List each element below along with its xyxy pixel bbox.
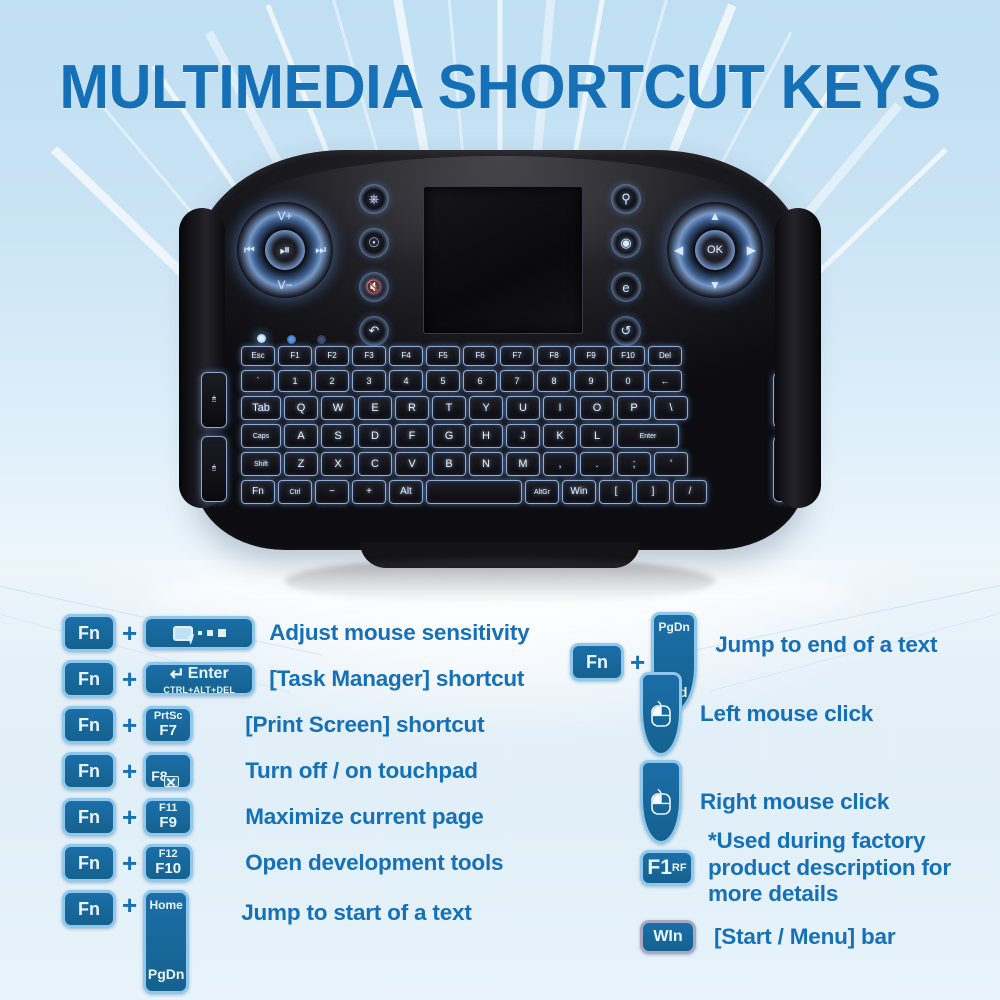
- enter-text: Enter: [188, 665, 229, 683]
- key-rf-superscript: RF: [672, 862, 687, 874]
- keyboard-key-f6: F6: [463, 346, 497, 366]
- keyboard-key-p: P: [617, 396, 651, 420]
- touchpad-sensitivity-icon: [173, 626, 226, 641]
- plus-sign: +: [122, 890, 137, 921]
- keyboard-key-: ,: [543, 452, 577, 476]
- dpad-up-icon: ▲: [709, 209, 721, 223]
- keyboard-touchpad: [423, 186, 583, 334]
- browser-icon: e: [611, 272, 641, 302]
- key-f8-touchpad[interactable]: F8: [143, 752, 193, 790]
- keyboard-key-5: 5: [426, 370, 460, 392]
- enter-label: ↵Enter: [170, 664, 229, 685]
- home-icon: ☉: [359, 228, 389, 258]
- legend-row-left-0: Fn+Adjust mouse sensitivity: [62, 614, 529, 652]
- dpad-ring: ▲ ▼ ◀ ▶ OK: [667, 202, 763, 298]
- key-fn[interactable]: Fn: [62, 660, 116, 698]
- keyboard-key-: `: [241, 370, 275, 392]
- keyboard-key-s: S: [321, 424, 355, 448]
- legend-row-left-1: Fn+↵EnterCTRL+ALT+DEL[Task Manager] shor…: [62, 660, 524, 698]
- keyboard-key-: ]: [636, 480, 670, 504]
- keyboard-key-z: Z: [284, 452, 318, 476]
- plus-sign: +: [122, 756, 137, 787]
- product-image-keyboard: V+ V− ⏮ ⏭ ⏯ ▲ ▼ ◀ ▶ OK ⎈ ☉ 🔇 ↶ ⚲ ◉ e ↺ ⍐…: [195, 150, 805, 570]
- next-track-icon: ⏭: [315, 243, 326, 258]
- sensitivity-low: [198, 631, 202, 635]
- caps-led: [257, 334, 266, 343]
- keyboard-key-fn: Fn: [241, 480, 275, 504]
- keyboard-row-5: FnCtrl−+AltAltGrWin[]/: [241, 480, 707, 504]
- keyboard-key-tab: Tab: [241, 396, 281, 420]
- legend-description: [Task Manager] shortcut: [269, 666, 524, 692]
- keyboard-key-win: Win: [562, 480, 596, 504]
- legend-description: *Used during factory product description…: [708, 828, 988, 908]
- keyboard-key-: −: [315, 480, 349, 504]
- keyboard-key-: +: [352, 480, 386, 504]
- keyboard-key-f2: F2: [315, 346, 349, 366]
- num-led: [317, 335, 326, 344]
- key-home-pgdn[interactable]: HomePgDn: [143, 890, 189, 994]
- legend-description: Right mouse click: [700, 789, 889, 815]
- keyboard-key-alt: Alt: [389, 480, 423, 504]
- keyboard-key-: ': [654, 452, 688, 476]
- key-fn[interactable]: Fn: [62, 706, 116, 744]
- key-f10[interactable]: F12F10: [143, 844, 193, 882]
- key-fn[interactable]: Fn: [62, 890, 116, 928]
- legend-row-left-4: Fn+F11F9Maximize current page: [62, 798, 484, 836]
- enter-arrow-icon: ↵: [170, 664, 185, 685]
- keyboard-key-f7: F7: [500, 346, 534, 366]
- keyboard-key-f4: F4: [389, 346, 423, 366]
- dpad-down-icon: ▼: [709, 278, 721, 292]
- prev-track-icon: ⏮: [244, 243, 255, 258]
- keyboard-key-k: K: [543, 424, 577, 448]
- key-label: F1: [647, 856, 672, 880]
- sensitivity-high: [218, 629, 226, 637]
- key-adjust-sensitivity[interactable]: [143, 616, 255, 650]
- key-bottom-label: F9: [159, 815, 177, 831]
- keyboard-key-altgr: AltGr: [525, 480, 559, 504]
- keyboard-key-caps: Caps: [241, 424, 281, 448]
- plus-sign: +: [122, 710, 137, 741]
- keyboard-key-u: U: [506, 396, 540, 420]
- mouse-left-key: 🖱: [201, 372, 227, 428]
- keyboard-key-f8: F8: [537, 346, 571, 366]
- keyboard-key-9: 9: [574, 370, 608, 392]
- keyboard-key-c: C: [358, 452, 392, 476]
- key-f1-rf[interactable]: F1RF: [640, 850, 694, 886]
- keyboard-key-7: 7: [500, 370, 534, 392]
- touchpad-off-icon: [164, 776, 179, 787]
- legend-description: Turn off / on touchpad: [245, 758, 478, 784]
- plus-sign: +: [122, 802, 137, 833]
- key-win[interactable]: WIn: [640, 920, 696, 954]
- keyboard-key-o: O: [580, 396, 614, 420]
- app-icon: ◉: [611, 228, 641, 258]
- keyboard-key-q: Q: [284, 396, 318, 420]
- legend-row-left-3: Fn+F8Turn off / on touchpad: [62, 752, 478, 790]
- keyboard-row-2: TabQWERTYUIOP\: [241, 396, 688, 420]
- keyboard-key-3: 3: [352, 370, 386, 392]
- keyboard-key-8: 8: [537, 370, 571, 392]
- keyboard-key-x: X: [321, 452, 355, 476]
- play-pause-icon: ⏯: [265, 230, 305, 270]
- keyboard-key-f: F: [395, 424, 429, 448]
- legend-description: Maximize current page: [245, 804, 483, 830]
- keyboard-key-g: G: [432, 424, 466, 448]
- legend-row-right-1: Left mouse click: [570, 672, 873, 756]
- refresh-icon: ↺: [611, 316, 641, 346]
- sensitivity-mid: [207, 630, 213, 636]
- keyboard-key-d: D: [358, 424, 392, 448]
- keyboard-key-r: R: [395, 396, 429, 420]
- keyboard-key-v: V: [395, 452, 429, 476]
- key-fn[interactable]: Fn: [62, 844, 116, 882]
- plus-sign: +: [122, 664, 137, 695]
- media-ring-pad: V+ V− ⏮ ⏭ ⏯: [237, 202, 333, 298]
- keyboard-key-space: [426, 480, 522, 504]
- ctrl-alt-del-label: CTRL+ALT+DEL: [163, 685, 235, 695]
- mouse-left-click-key[interactable]: [640, 672, 682, 756]
- keyboard-key-n: N: [469, 452, 503, 476]
- keyboard-row-4: ShiftZXCVBNM,.;': [241, 452, 688, 476]
- keyboard-row-3: CapsASDFGHJKLEnter: [241, 424, 679, 448]
- key-enter-ctrl-alt-del[interactable]: ↵EnterCTRL+ALT+DEL: [143, 662, 255, 696]
- keyboard-key-f10: F10: [611, 346, 645, 366]
- keyboard-key-: \: [654, 396, 688, 420]
- keyboard-key-a: A: [284, 424, 318, 448]
- keyboard-key-t: T: [432, 396, 466, 420]
- scroll-led: [287, 335, 296, 344]
- keyboard-key-shift: Shift: [241, 452, 281, 476]
- key-fn[interactable]: Fn: [62, 614, 116, 652]
- keyboard-key-w: W: [321, 396, 355, 420]
- keyboard-key-: [: [599, 480, 633, 504]
- keyboard-body: V+ V− ⏮ ⏭ ⏯ ▲ ▼ ◀ ▶ OK ⎈ ☉ 🔇 ↶ ⚲ ◉ e ↺ ⍐…: [195, 150, 805, 550]
- shortcut-legend: Fn+Adjust mouse sensitivityFn+↵EnterCTRL…: [0, 590, 1000, 1000]
- legend-description: Jump to start of a text: [241, 900, 471, 926]
- keyboard-key-y: Y: [469, 396, 503, 420]
- end-pgdn-key: EndPgDn: [773, 436, 799, 502]
- mouse-right-key: 🖱: [201, 436, 227, 502]
- key-top-label: PgDn: [659, 620, 690, 634]
- legend-row-left-5: Fn+F12F10Open development tools: [62, 844, 503, 882]
- key-fn[interactable]: Fn: [62, 752, 116, 790]
- keyboard-key-del: Del: [648, 346, 682, 366]
- keyboard-row-0: EscF1F2F3F4F5F6F7F8F9F10Del: [241, 346, 682, 366]
- keyboard-key-h: H: [469, 424, 503, 448]
- key-bottom-label: F7: [159, 723, 177, 739]
- keyboard-row-1: `1234567890←: [241, 370, 682, 392]
- power-icon: ⎈: [359, 184, 389, 214]
- keyboard-key-6: 6: [463, 370, 497, 392]
- keyboard-key-enter: Enter: [617, 424, 679, 448]
- home-pgup-key: HomePgUp: [773, 372, 799, 428]
- keyboard-key-2: 2: [315, 370, 349, 392]
- keyboard-key-: ;: [617, 452, 651, 476]
- keyboard-key-i: I: [543, 396, 577, 420]
- legend-description: Jump to end of a text: [715, 632, 937, 658]
- page-title: MULTIMEDIA SHORTCUT KEYS: [20, 52, 980, 123]
- dpad-right-icon: ▶: [747, 243, 756, 257]
- touchpad-glyph: [173, 626, 193, 641]
- legend-description: [Start / Menu] bar: [714, 924, 895, 950]
- mouse-left-click-icon: [650, 700, 672, 728]
- keyboard-key-l: L: [580, 424, 614, 448]
- keyboard-key-m: M: [506, 452, 540, 476]
- dpad-left-icon: ◀: [674, 243, 683, 257]
- plus-sign: +: [122, 618, 137, 649]
- legend-description: Open development tools: [245, 850, 503, 876]
- key-bottom-label: F10: [155, 861, 181, 877]
- legend-row-left-2: Fn+PrtScF7[Print Screen] shortcut: [62, 706, 484, 744]
- key-f9[interactable]: F11F9: [143, 798, 193, 836]
- plus-sign: +: [122, 848, 137, 879]
- cursor-arrow-icon: [187, 634, 197, 645]
- keyboard-key-f1: F1: [278, 346, 312, 366]
- keyboard-key-: /: [673, 480, 707, 504]
- dpad-ok-button: OK: [695, 230, 735, 270]
- key-top-label: Home: [150, 898, 183, 912]
- mouse-right-click-icon: [650, 788, 672, 816]
- keyboard-key-ctrl: Ctrl: [278, 480, 312, 504]
- keyboard-key-: ←: [648, 370, 682, 392]
- legend-row-right-4: WIn[Start / Menu] bar: [570, 920, 895, 954]
- keyboard-key-e: E: [358, 396, 392, 420]
- keyboard-key-f3: F3: [352, 346, 386, 366]
- search-icon: ⚲: [611, 184, 641, 214]
- keyboard-key-0: 0: [611, 370, 645, 392]
- keyboard-key-j: J: [506, 424, 540, 448]
- keyboard-key-f9: F9: [574, 346, 608, 366]
- mute-icon: 🔇: [359, 272, 389, 302]
- legend-description: Adjust mouse sensitivity: [269, 620, 529, 646]
- keyboard-key-: .: [580, 452, 614, 476]
- back-icon: ↶: [359, 316, 389, 346]
- keyboard-key-1: 1: [278, 370, 312, 392]
- key-f7[interactable]: PrtScF7: [143, 706, 193, 744]
- volume-up-label: V+: [277, 209, 292, 223]
- keyboard-key-esc: Esc: [241, 346, 275, 366]
- legend-row-left-6: Fn+HomePgDnJump to start of a text: [62, 890, 472, 994]
- key-fn[interactable]: Fn: [62, 798, 116, 836]
- keyboard-key-b: B: [432, 452, 466, 476]
- key-bottom-label: PgDn: [148, 966, 185, 982]
- legend-row-right-3: F1RF*Used during factory product descrip…: [570, 828, 988, 908]
- keyboard-key-4: 4: [389, 370, 423, 392]
- legend-description: [Print Screen] shortcut: [245, 712, 484, 738]
- legend-description: Left mouse click: [700, 701, 873, 727]
- keyboard-key-f5: F5: [426, 346, 460, 366]
- volume-down-label: V−: [277, 278, 292, 292]
